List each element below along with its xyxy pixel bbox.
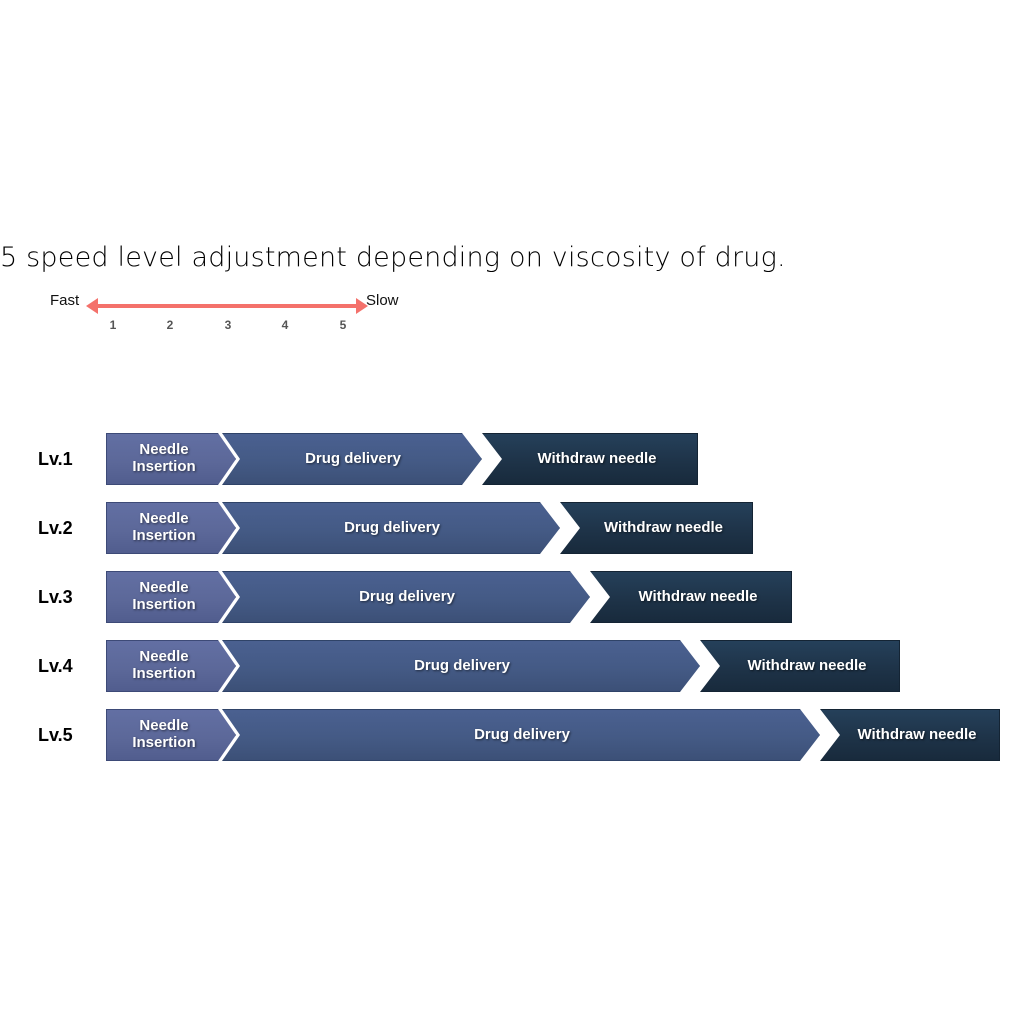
scale-tick-2: 2 [160, 318, 180, 332]
segment-drug-delivery[interactable]: Drug delivery [222, 571, 590, 623]
row-label-lv4: Lv.4 [38, 640, 73, 692]
needle-line-1: Needle [132, 511, 195, 528]
segment-drug-delivery[interactable]: Drug delivery [222, 502, 560, 554]
segment-drug-delivery[interactable]: Drug delivery [222, 709, 820, 761]
scale-tick-4: 4 [275, 318, 295, 332]
segment-needle-insertion[interactable]: NeedleInsertion [106, 571, 236, 623]
speed-scale: Fast Slow 1 2 3 4 5 [0, 292, 1024, 342]
table-row: Lv.3 NeedleInsertion Drug delivery Withd… [0, 571, 1024, 623]
segment-withdraw-needle[interactable]: Withdraw needle [700, 640, 900, 692]
segment-withdraw-needle[interactable]: Withdraw needle [482, 433, 698, 485]
segment-withdraw-needle[interactable]: Withdraw needle [590, 571, 792, 623]
page-title: 5 speed level adjustment depending on vi… [0, 242, 786, 273]
segment-needle-insertion[interactable]: NeedleInsertion [106, 709, 236, 761]
needle-line-2: Insertion [132, 459, 195, 476]
bar-lv3: NeedleInsertion Drug delivery Withdraw n… [106, 571, 792, 623]
needle-line-2: Insertion [132, 666, 195, 683]
level-rows: Lv.1 NeedleInsertion Drug delivery Withd… [0, 433, 1024, 778]
scale-tick-1: 1 [103, 318, 123, 332]
segment-withdraw-needle[interactable]: Withdraw needle [820, 709, 1000, 761]
bar-lv2: NeedleInsertion Drug delivery Withdraw n… [106, 502, 753, 554]
needle-line-1: Needle [132, 718, 195, 735]
row-label-lv5: Lv.5 [38, 709, 73, 761]
segment-needle-insertion[interactable]: NeedleInsertion [106, 502, 236, 554]
table-row: Lv.2 NeedleInsertion Drug delivery Withd… [0, 502, 1024, 554]
needle-line-1: Needle [132, 580, 195, 597]
table-row: Lv.5 NeedleInsertion Drug delivery Withd… [0, 709, 1024, 761]
segment-needle-insertion[interactable]: NeedleInsertion [106, 640, 236, 692]
bar-lv4: NeedleInsertion Drug delivery Withdraw n… [106, 640, 900, 692]
table-row: Lv.4 NeedleInsertion Drug delivery Withd… [0, 640, 1024, 692]
scale-tick-3: 3 [218, 318, 238, 332]
row-label-lv2: Lv.2 [38, 502, 73, 554]
scale-fast-label: Fast [50, 292, 79, 309]
bar-lv1: NeedleInsertion Drug delivery Withdraw n… [106, 433, 698, 485]
scale-tick-5: 5 [333, 318, 353, 332]
table-row: Lv.1 NeedleInsertion Drug delivery Withd… [0, 433, 1024, 485]
needle-line-2: Insertion [132, 735, 195, 752]
needle-line-2: Insertion [132, 528, 195, 545]
segment-drug-delivery[interactable]: Drug delivery [222, 433, 482, 485]
segment-withdraw-needle[interactable]: Withdraw needle [560, 502, 753, 554]
needle-line-2: Insertion [132, 597, 195, 614]
needle-line-1: Needle [132, 649, 195, 666]
bar-lv5: NeedleInsertion Drug delivery Withdraw n… [106, 709, 1000, 761]
speed-arrow-line [96, 304, 360, 308]
row-label-lv3: Lv.3 [38, 571, 73, 623]
segment-drug-delivery[interactable]: Drug delivery [222, 640, 700, 692]
needle-line-1: Needle [132, 442, 195, 459]
row-label-lv1: Lv.1 [38, 433, 73, 485]
segment-needle-insertion[interactable]: NeedleInsertion [106, 433, 236, 485]
scale-slow-label: Slow [366, 292, 399, 309]
